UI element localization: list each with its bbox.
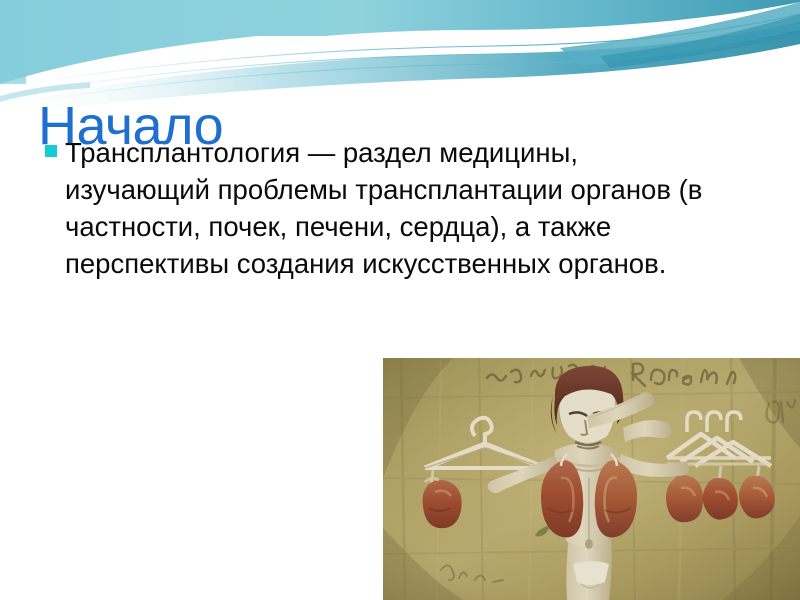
slide-body: Трансплантология — раздел медицины, изуч… — [40, 134, 708, 282]
header-decoration-band — [0, 0, 800, 110]
header-ribbon-right-dark — [600, 14, 800, 68]
header-ribbon-graphic — [0, 0, 800, 110]
presentation-slide: Начало Трансплантология — раздел медицин… — [0, 0, 800, 600]
header-top-fill — [0, 0, 800, 36]
illustration-organs-on-hangers — [383, 358, 800, 600]
header-wave-white — [0, 2, 800, 104]
header-ribbon-line-1 — [2, 14, 800, 88]
list-item: Трансплантология — раздел медицины, изуч… — [40, 134, 708, 282]
artwork-aging-wash — [383, 358, 800, 600]
header-ribbon-right — [560, 2, 800, 66]
header-wave-upper — [0, 0, 800, 84]
square-bullet-icon — [45, 145, 57, 157]
header-ribbon-line-2 — [2, 22, 800, 96]
artwork-graphic — [383, 358, 800, 600]
header-ribbon-line-3 — [4, 32, 800, 106]
header-left-column — [0, 0, 26, 84]
bullet-text: Трансплантология — раздел медицины, изуч… — [65, 134, 708, 282]
